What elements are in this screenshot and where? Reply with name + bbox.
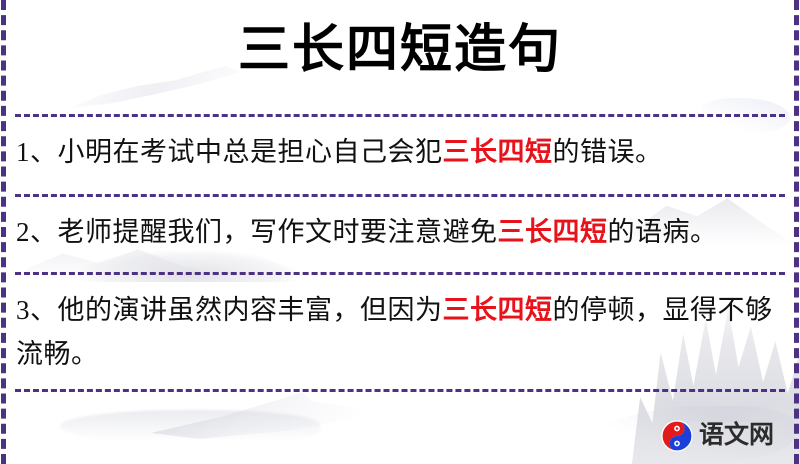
divider-4 xyxy=(15,389,785,392)
keyword-highlight-1: 三长四短 xyxy=(443,137,553,167)
keyword-highlight-3: 三长四短 xyxy=(443,295,553,325)
sentence-number-2: 2、 xyxy=(16,217,58,247)
sentence-text-before-1: 小明在考试中总是担心自己会犯 xyxy=(58,137,443,167)
page-title: 三长四短造句 xyxy=(0,18,800,84)
sentence-number-3: 3、 xyxy=(16,295,58,325)
keyword-highlight-2: 三长四短 xyxy=(498,217,608,247)
divider-1 xyxy=(15,114,785,117)
sentence-text-before-2: 老师提醒我们，写作文时要注意避免 xyxy=(58,217,498,247)
sentence-number-1: 1、 xyxy=(16,137,58,167)
site-logo-text: 语文网 xyxy=(699,422,774,450)
sentence-text-after-1: 的错误。 xyxy=(553,137,663,167)
sentence-text-after-2: 的语病。 xyxy=(608,217,718,247)
divider-2 xyxy=(15,194,785,197)
yin-yang-circle-icon xyxy=(661,420,693,452)
sentence-item-3: 3、他的演讲虽然内容丰富，但因为三长四短的停顿，显得不够流畅。 xyxy=(16,288,782,376)
watermark-water xyxy=(60,410,320,444)
watermark-boat xyxy=(149,387,372,448)
worksheet-page: 三长四短造句 1、小明在考试中总是担心自己会犯三长四短的错误。 2、老师提醒我们… xyxy=(0,0,800,464)
sentence-text-before-3: 他的演讲虽然内容丰富，但因为 xyxy=(58,295,443,325)
sentence-item-2: 2、老师提醒我们，写作文时要注意避免三长四短的语病。 xyxy=(16,210,782,254)
sentence-item-1: 1、小明在考试中总是担心自己会犯三长四短的错误。 xyxy=(16,130,782,174)
divider-3 xyxy=(15,272,785,275)
site-logo[interactable]: 语文网 xyxy=(661,420,774,452)
